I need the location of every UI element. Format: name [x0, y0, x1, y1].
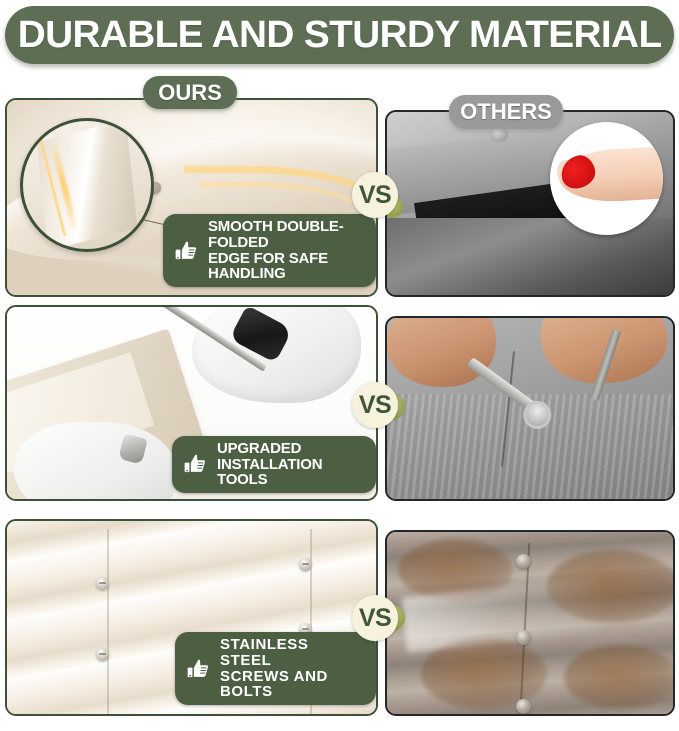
vs-badge-row-2: VS: [352, 382, 398, 428]
thumbs-up-icon: [183, 654, 213, 684]
caption-text: SMOOTH DOUBLE-FOLDED EDGE FOR SAFE HANDL…: [208, 219, 363, 282]
thumbs-up-icon: [180, 449, 210, 479]
caption-ours-edge-safety: SMOOTH DOUBLE-FOLDED EDGE FOR SAFE HANDL…: [163, 214, 376, 287]
panel-others-installation-tools: DIFFICULT INSTALLATION TOOLS: [385, 316, 675, 501]
rusty-screw: [516, 554, 531, 569]
caption-text: UPGRADED INSTALLATION TOOLS: [217, 441, 363, 488]
thumbs-up-icon: [171, 236, 201, 266]
caption-text: STAINLESS STEEL SCREWS AND BOLTS: [220, 637, 363, 700]
stainless-screw: [96, 648, 109, 661]
panel-seam: [107, 529, 109, 714]
photo-others-fasteners: [387, 532, 673, 714]
panel-ours-installation-tools: UPGRADED INSTALLATION TOOLS: [5, 305, 378, 501]
comparison-row-fasteners: STAINLESS STEEL SCREWS AND BOLTS EASY TO…: [0, 519, 679, 725]
rust-patch: [564, 645, 675, 711]
bare-hand-left: [387, 316, 496, 387]
vs-badge-row-3: VS: [352, 595, 398, 641]
page-title: DURABLE AND STURDY MATERIAL: [18, 16, 662, 54]
photo-others-edge-safety: [387, 112, 673, 295]
stainless-screw: [299, 558, 312, 571]
gloved-hand-lower: [14, 422, 176, 501]
magnifier-circle-inset: [20, 118, 154, 252]
bleeding-finger-inset: [550, 122, 663, 235]
panel-others-edge-safety: SHARP EDGES CAN SCRATCH HANDS: [385, 110, 675, 297]
caption-ours-installation-tools: UPGRADED INSTALLATION TOOLS: [172, 436, 376, 493]
header-pill: DURABLE AND STURDY MATERIAL: [5, 6, 674, 64]
tag-others: OTHERS: [449, 95, 563, 129]
comparison-row-installation-tools: UPGRADED INSTALLATION TOOLS DIFFICULT IN…: [0, 305, 679, 510]
rusty-screw: [516, 630, 531, 645]
panel-others-fasteners: EASY TO RUST SCREWS AND BOLTS: [385, 530, 675, 716]
panel-ours-fasteners: STAINLESS STEEL SCREWS AND BOLTS: [5, 519, 378, 716]
header-banner: DURABLE AND STURDY MATERIAL: [5, 6, 674, 64]
tag-ours: OURS: [143, 76, 237, 109]
panel-ours-edge-safety: SMOOTH DOUBLE-FOLDED EDGE FOR SAFE HANDL…: [5, 98, 378, 297]
comparison-row-edge-safety: SMOOTH DOUBLE-FOLDED EDGE FOR SAFE HANDL…: [0, 92, 679, 297]
rusty-screw: [516, 699, 531, 714]
vs-badge-row-1: VS: [352, 172, 398, 218]
caption-ours-fasteners: STAINLESS STEEL SCREWS AND BOLTS: [175, 632, 376, 705]
stainless-screw: [96, 577, 109, 590]
photo-others-installation-tools: [387, 318, 673, 499]
